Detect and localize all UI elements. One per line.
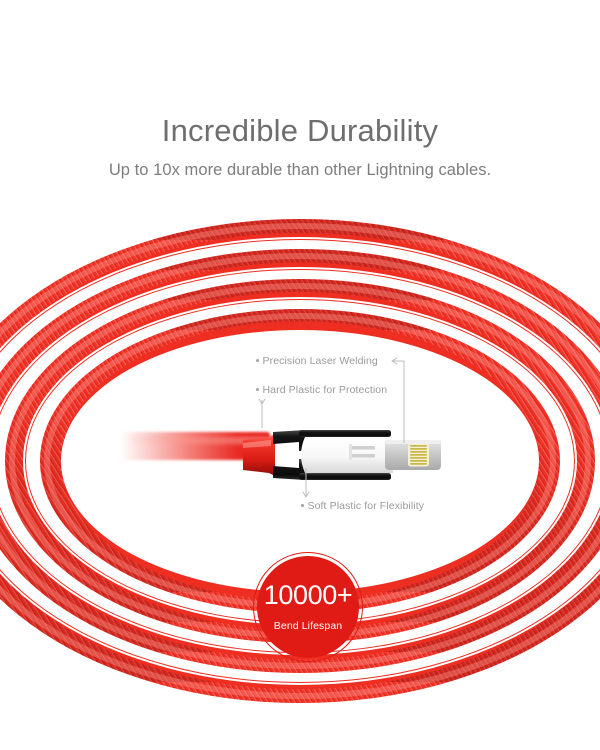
callout-label-text: Precision Laser Welding (263, 355, 378, 367)
bullet-icon (256, 359, 259, 362)
page-title: Incredible Durability (0, 0, 600, 149)
badge-caption: Bend Lifespan (253, 620, 363, 632)
callout-hard-plastic-for-protection[interactable]: Hard Plastic for Protection (256, 384, 387, 396)
page-subtitle: Up to 10x more durable than other Lightn… (0, 149, 600, 180)
bottom-crop-band (0, 706, 600, 750)
callout-soft-plastic-for-flexibility[interactable]: Soft Plastic for Flexibility (301, 500, 424, 512)
callout-precision-laser-welding[interactable]: Precision Laser Welding (256, 355, 378, 367)
header: Incredible Durability Up to 10x more dur… (0, 0, 600, 180)
badge-count: 10000+ (253, 580, 363, 611)
bullet-icon (256, 388, 259, 391)
bend-lifespan-badge: 10000+ Bend Lifespan (253, 552, 363, 662)
lightning-micro-usb-connector-icon (243, 418, 458, 492)
bullet-icon (301, 504, 304, 507)
callout-label-text: Hard Plastic for Protection (263, 384, 388, 396)
callout-label-text: Soft Plastic for Flexibility (308, 500, 425, 512)
